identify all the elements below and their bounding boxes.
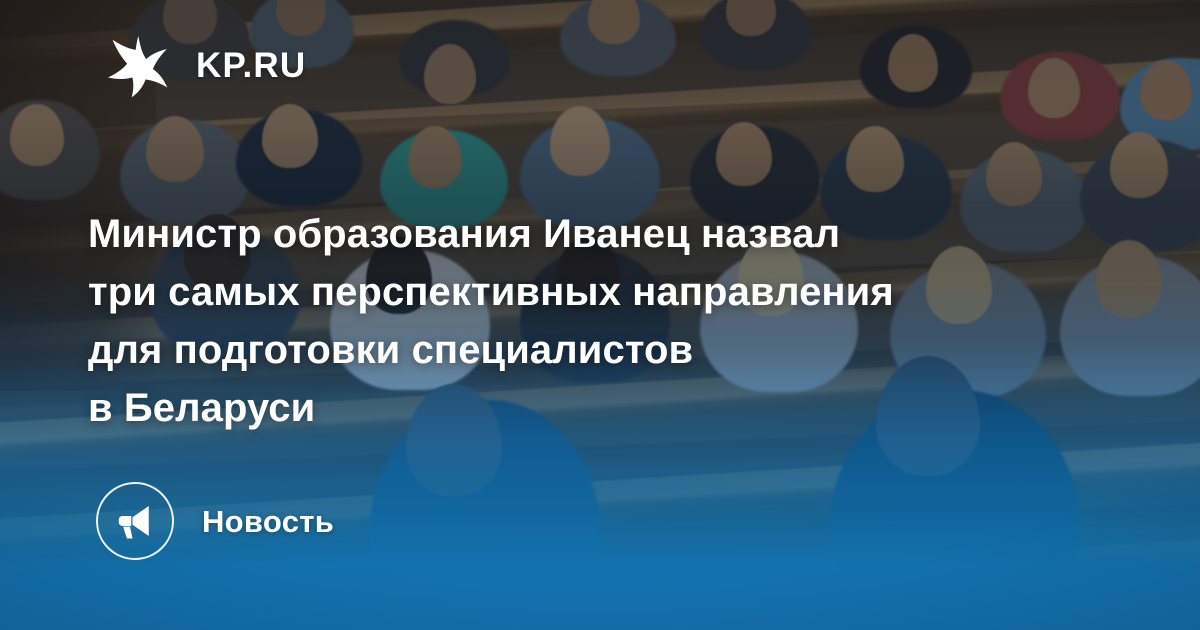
headline-line: Министр образования Иванец назвал	[88, 205, 1098, 263]
headline-line: в Беларуси	[88, 379, 1098, 437]
badge-circle	[96, 482, 174, 560]
page-title: Министр образования Иванец назвал три са…	[88, 205, 1098, 437]
badge-label: Новость	[202, 506, 334, 537]
brand-logo[interactable]: KP.RU	[104, 32, 306, 98]
news-badge[interactable]: Новость	[96, 482, 334, 560]
megaphone-icon	[115, 501, 155, 541]
social-share-card: KP.RU Министр образования Иванец назвал …	[0, 0, 1200, 630]
headline-line: три самых перспективных направления	[88, 263, 1098, 321]
kp-bird-logo-icon	[104, 32, 170, 98]
brand-wordmark: KP.RU	[196, 48, 306, 83]
headline-line: для подготовки специалистов	[88, 321, 1098, 379]
